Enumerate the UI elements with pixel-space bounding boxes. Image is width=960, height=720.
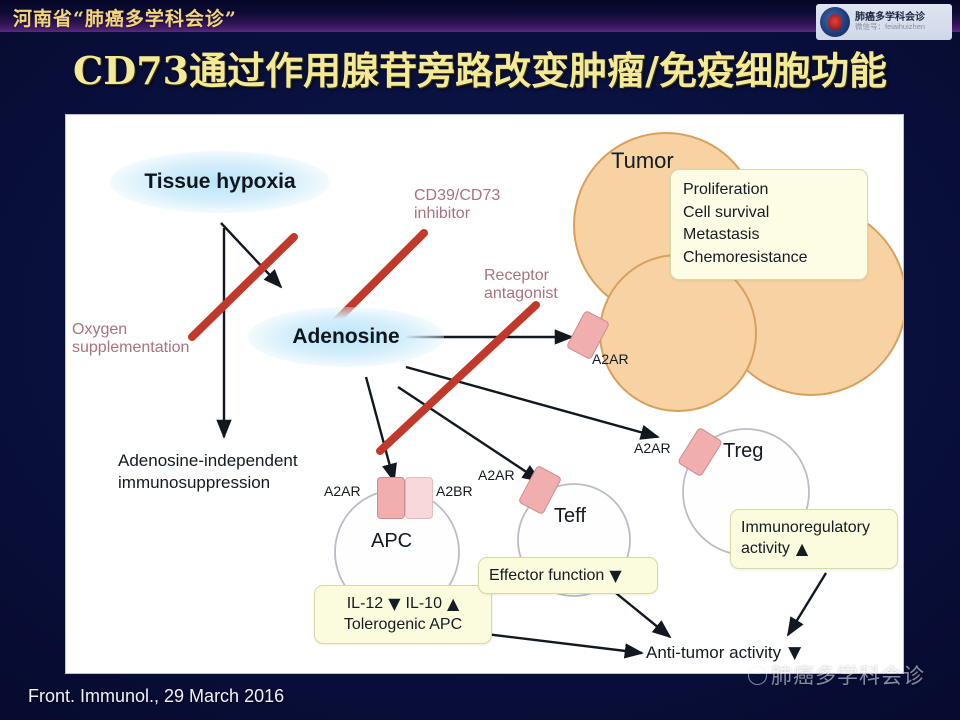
arrow-adenosine-to-apc xyxy=(366,377,394,481)
callout-tumor-line-0: Proliferation xyxy=(683,179,855,202)
intervention-receptor-antagonist: Receptor antagonist xyxy=(484,267,558,303)
wechat-badge: 肺癌多学科会诊 微信号：feiaihuizhen xyxy=(816,4,952,40)
outcome-adenosine-independent-line2: immunosuppression xyxy=(118,472,298,494)
node-adenosine-label: Adenosine xyxy=(292,325,399,349)
arrow-treg-to-antitumor xyxy=(788,573,826,635)
callout-treg-immunoregulatory: Immunoregulatory activity ▲ xyxy=(730,509,898,569)
receptor-teff-a2ar-label: A2AR xyxy=(478,467,515,483)
figure-panel: Tissue hypoxia Adenosine Tumor APC Teff … xyxy=(66,115,903,673)
arrow-adenosine-to-teff xyxy=(398,387,540,481)
callout-tumor-effects: Proliferation Cell survival Metastasis C… xyxy=(670,169,868,280)
intervention-cd39-line2: inhibitor xyxy=(414,205,500,223)
callout-teff-row: Effector function ▼ xyxy=(489,566,647,585)
wechat-badge-id: 微信号：feiaihuizhen xyxy=(855,23,925,32)
intervention-cd39-line1: CD39/CD73 xyxy=(414,187,500,205)
callout-tumor-line-3: Chemoresistance xyxy=(683,247,855,270)
citation: Front. Immunol., 29 March 2016 xyxy=(28,686,284,707)
callout-apc-tolerogenic-label: Tolerogenic APC xyxy=(325,614,481,635)
intervention-antagonist-line1: Receptor xyxy=(484,267,558,285)
lung-logo-icon xyxy=(820,7,850,37)
callout-tumor-line-1: Cell survival xyxy=(683,202,855,225)
receptor-apc-a2br xyxy=(405,477,433,519)
intervention-cd39-cd73-inhibitor: CD39/CD73 inhibitor xyxy=(414,187,500,223)
up-arrow-icon: ▲ xyxy=(447,593,459,614)
receptor-apc-a2ar-label: A2AR xyxy=(324,483,361,499)
down-arrow-icon: ▼ xyxy=(609,566,621,585)
intervention-oxygen-supplementation: Oxygen supplementation xyxy=(72,321,189,357)
wechat-badge-text: 肺癌多学科会诊 微信号：feiaihuizhen xyxy=(855,12,925,32)
callout-apc-il10-label: IL-10 xyxy=(406,593,442,614)
node-tissue-hypoxia: Tissue hypoxia xyxy=(110,151,330,213)
node-apc-label: APC xyxy=(371,530,412,553)
callout-apc-il12-label: IL-12 xyxy=(347,593,383,614)
up-arrow-icon: ▲ xyxy=(796,539,808,560)
node-adenosine: Adenosine xyxy=(248,307,444,367)
receptor-apc-a2ar xyxy=(377,477,405,519)
node-tissue-hypoxia-label: Tissue hypoxia xyxy=(144,170,295,194)
watermark-text: 肺癌多学科会诊 xyxy=(771,660,925,690)
callout-apc-tolerogenic: IL-12 ▼ IL-10 ▲ Tolerogenic APC xyxy=(314,585,492,644)
intervention-oxygen-line1: Oxygen xyxy=(72,321,189,339)
receptor-treg-a2ar-label: A2AR xyxy=(634,440,671,456)
node-teff-label: Teff xyxy=(554,505,586,528)
callout-tumor-line-2: Metastasis xyxy=(683,224,855,247)
callout-treg-line1: Immunoregulatory xyxy=(741,518,887,539)
watermark: 肺癌多学科会诊 xyxy=(748,660,925,690)
down-arrow-icon: ▼ xyxy=(388,593,400,614)
callout-treg-line2: activity xyxy=(741,539,790,560)
organization-title: 河南省“肺癌多学科会诊” xyxy=(13,4,237,31)
wechat-icon xyxy=(748,666,767,685)
intervention-antagonist-line2: antagonist xyxy=(484,285,558,303)
outcome-adenosine-independent: Adenosine-independent immunosuppression xyxy=(118,450,298,495)
callout-treg-row2: activity ▲ xyxy=(741,539,887,560)
slide-root: 河南省“肺癌多学科会诊” 肺癌多学科会诊 微信号：feiaihuizhen CD… xyxy=(0,0,960,720)
receptor-apc-a2br-label: A2BR xyxy=(436,483,473,499)
page-title: CD73通过作用腺苷旁路改变肿瘤/免疫细胞功能 xyxy=(0,48,960,94)
node-treg-label: Treg xyxy=(723,440,763,463)
callout-apc-cytokine-row: IL-12 ▼ IL-10 ▲ xyxy=(325,593,481,614)
callout-teff-label: Effector function xyxy=(489,567,604,585)
outcome-adenosine-independent-line1: Adenosine-independent xyxy=(118,450,298,472)
receptor-tumor-a2ar-label: A2AR xyxy=(592,351,629,367)
node-tumor-label: Tumor xyxy=(611,148,674,174)
callout-teff-effector-function: Effector function ▼ xyxy=(478,557,658,594)
intervention-oxygen-line2: supplementation xyxy=(72,339,189,357)
